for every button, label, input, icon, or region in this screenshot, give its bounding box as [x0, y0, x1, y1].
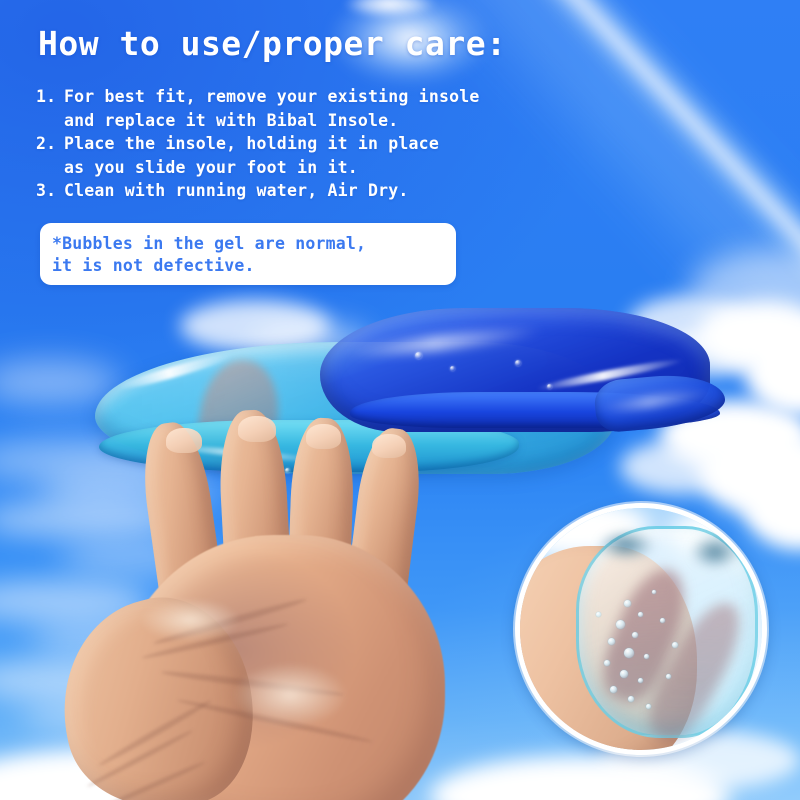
bubble-icon	[632, 632, 638, 638]
bubble-icon	[660, 618, 665, 623]
hand-holding-insole	[0, 400, 560, 800]
bubble-icon	[608, 638, 615, 645]
gel-shadow	[586, 524, 666, 566]
callout-text: *Bubbles in the gel are normal,it is not…	[52, 233, 366, 277]
palm-highlight	[120, 590, 260, 650]
gel-shadow	[680, 528, 750, 576]
list-item: 3. Clean with running water, Air Dry.	[36, 179, 636, 203]
list-item-number: 1.	[36, 85, 64, 109]
page-title: How to use/proper care:	[38, 22, 506, 66]
bubble-icon	[646, 704, 651, 709]
bubble-icon	[515, 360, 521, 366]
list-item-text: Place the insole, holding it in placeas …	[64, 132, 636, 179]
bubble-icon	[624, 600, 631, 607]
fingernail	[372, 434, 406, 458]
bubble-icon	[610, 686, 617, 693]
list-item: 2. Place the insole, holding it in place…	[36, 132, 636, 179]
fingernail	[166, 428, 202, 453]
palm-highlight	[210, 650, 370, 740]
list-item-number: 2.	[36, 132, 64, 156]
bubble-icon	[547, 384, 552, 389]
fingernail	[238, 416, 276, 442]
bubble-icon	[666, 674, 671, 679]
bubble-icon	[616, 620, 625, 629]
list-item-text: Clean with running water, Air Dry.	[64, 179, 636, 203]
list-item: 1. For best fit, remove your existing in…	[36, 85, 636, 132]
gel-closeup-inset	[515, 503, 767, 755]
bubble-icon	[620, 670, 628, 678]
bubble-icon	[628, 696, 634, 702]
list-item-text: For best fit, remove your existing insol…	[64, 85, 636, 132]
fingernail	[306, 424, 341, 449]
bubble-icon	[644, 654, 649, 659]
bubble-icon	[638, 612, 643, 617]
bubble-icon	[415, 352, 422, 359]
bubble-icon	[604, 660, 610, 666]
instruction-list: 1. For best fit, remove your existing in…	[36, 85, 636, 203]
bubble-icon	[638, 678, 643, 683]
product-infographic-poster: How to use/proper care: 1. For best fit,…	[0, 0, 800, 800]
list-item-number: 3.	[36, 179, 64, 203]
bubble-icon	[652, 590, 656, 594]
bubble-icon	[450, 366, 455, 371]
bubble-disclaimer-callout: *Bubbles in the gel are normal,it is not…	[40, 223, 456, 285]
bubble-icon	[624, 648, 634, 658]
bubble-icon	[596, 612, 601, 617]
bubble-icon	[672, 642, 678, 648]
